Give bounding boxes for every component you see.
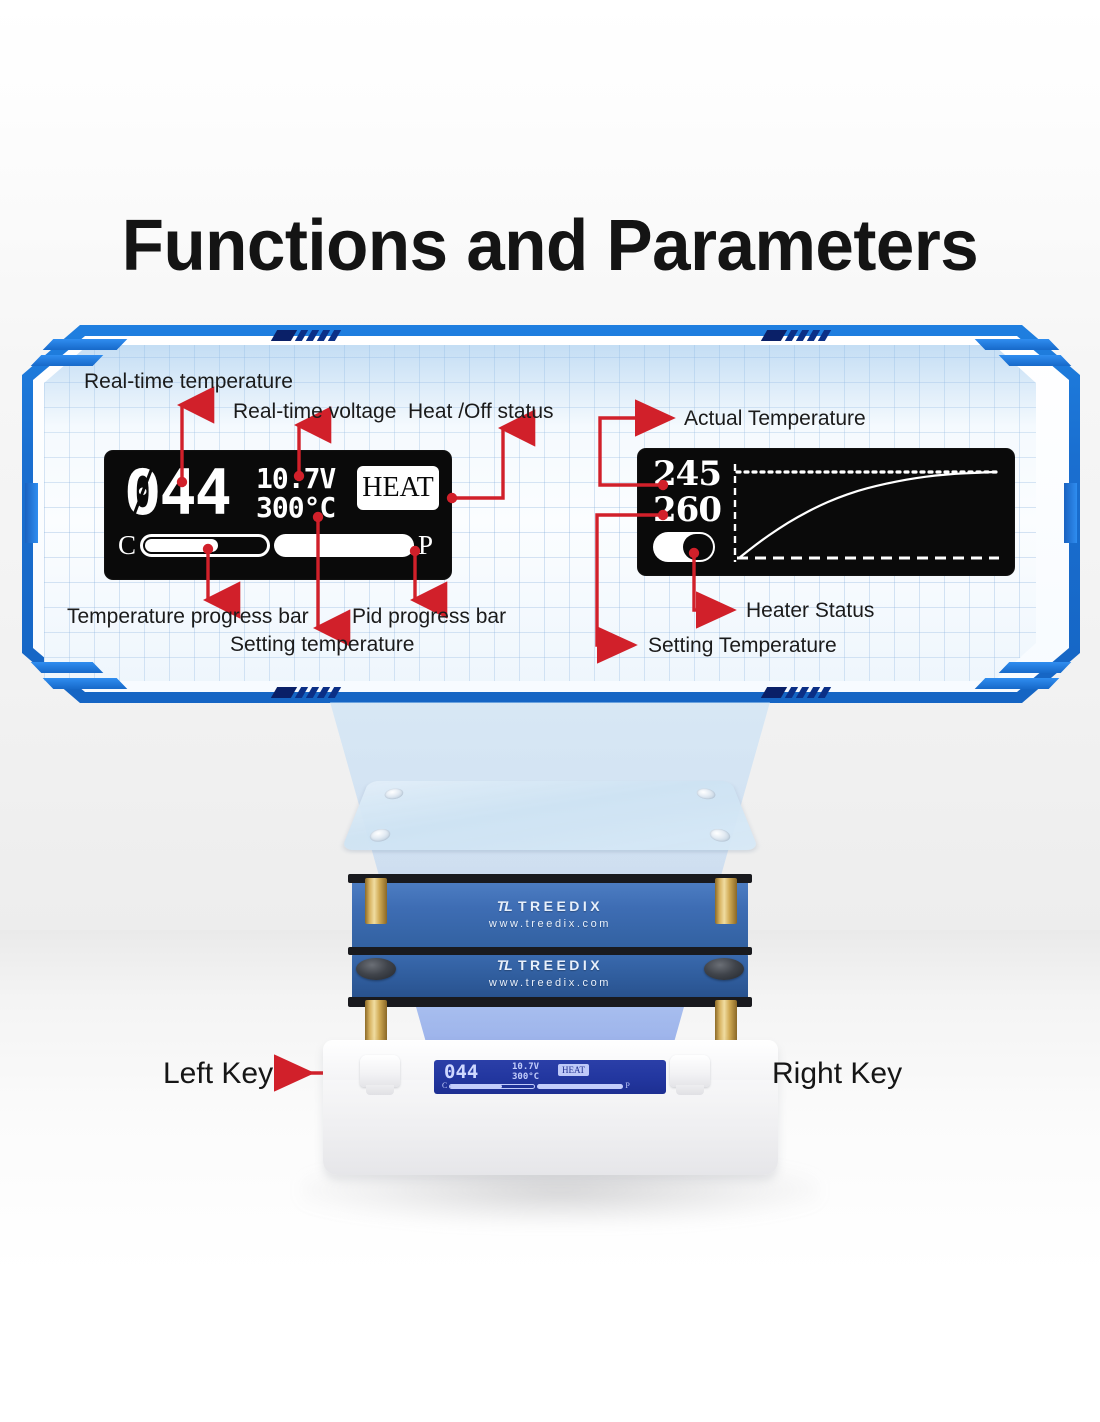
toggle-knob xyxy=(683,534,713,560)
mini-temperature-fill xyxy=(450,1085,502,1088)
brand-url-upper: www.treedix.com xyxy=(352,918,748,930)
corner-accent-top-right-2 xyxy=(999,355,1072,366)
pcb-edge-bottom xyxy=(348,997,752,1007)
knurled-nut-left xyxy=(356,958,396,980)
setting-temperature-value-right: 260 xyxy=(653,492,721,528)
mini-heat-badge: HEAT xyxy=(558,1064,589,1076)
device-mini-oled: 044 10.7V 300°C HEAT C P xyxy=(434,1060,666,1094)
oled-display-left: 044 10.7V 300°C HEAT C P xyxy=(104,450,452,580)
temperature-bar-label: C xyxy=(118,532,136,559)
pid-progress-bar xyxy=(274,534,414,557)
screw-top-right xyxy=(695,788,717,799)
callout-label-setting-temperature-right: Setting Temperature xyxy=(648,634,837,658)
callout-label-actual-temperature: Actual Temperature xyxy=(684,407,866,431)
pcb-edge-upper xyxy=(348,874,752,883)
left-key-label: Left Key xyxy=(163,1057,273,1091)
standoff-upper-left xyxy=(365,878,387,924)
mini-temperature-value: 044 xyxy=(444,1063,478,1082)
callout-label-realtime-voltage: Real-time voltage xyxy=(233,400,396,424)
treedix-logo-icon-lower: TL xyxy=(495,957,514,973)
brand-text-lower: TREEDIX xyxy=(518,957,603,973)
brand-url-lower: www.treedix.com xyxy=(352,977,748,989)
callout-label-temperature-progress-bar: Temperature progress bar xyxy=(67,605,309,629)
heat-status-badge: HEAT xyxy=(357,466,439,510)
corner-accent-top-left-1 xyxy=(43,339,128,350)
callout-label-realtime-temperature: Real-time temperature xyxy=(84,370,293,394)
callout-label-pid-progress-bar: Pid progress bar xyxy=(352,605,506,629)
screw-bottom-right xyxy=(708,829,732,842)
voltage-and-settemp-block: 10.7V 300°C xyxy=(256,464,335,522)
realtime-temperature-value: 044 xyxy=(124,462,230,524)
slashed-zero-glyph: 0 xyxy=(124,462,159,524)
pcb-board-lower: TLTREEDIX www.treedix.com xyxy=(352,953,748,1001)
callout-label-setting-temperature: Setting temperature xyxy=(230,633,414,657)
oled-display-right: 245 260 xyxy=(637,448,1015,576)
chart-actual-temp-curve xyxy=(739,472,995,558)
knurled-nut-right xyxy=(704,958,744,980)
right-key-button[interactable] xyxy=(670,1055,710,1087)
brand-text-upper: TREEDIX xyxy=(518,898,603,914)
pcb-board-upper: TLTREEDIX www.treedix.com xyxy=(352,880,748,952)
corner-accent-bottom-left-1 xyxy=(43,678,128,689)
mini-temperature-bar xyxy=(449,1084,535,1089)
frame-hashmarks-top-right xyxy=(764,330,828,341)
mini-bar-p-label: P xyxy=(625,1082,629,1090)
brand-name-upper: TLTREEDIX xyxy=(352,898,748,914)
frame-hashmarks-top-left xyxy=(274,330,338,341)
mini-bar-c-label: C xyxy=(442,1082,447,1090)
realtime-voltage-value: 10.7V xyxy=(256,464,335,493)
mini-settemp-value: 300°C xyxy=(512,1073,539,1083)
treedix-logo-icon-upper: TL xyxy=(495,898,514,914)
corner-accent-bottom-right-2 xyxy=(999,662,1072,673)
standoff-upper-right xyxy=(715,878,737,924)
temperature-progress-bar xyxy=(140,534,270,557)
progress-bar-row: C P xyxy=(118,528,440,562)
actual-temperature-value: 245 xyxy=(653,456,721,492)
mini-progress-bars: C P xyxy=(442,1082,656,1090)
pcb-edge-lower xyxy=(348,947,752,955)
mini-voltage-block: 10.7V 300°C xyxy=(512,1063,539,1082)
corner-accent-bottom-left-2 xyxy=(31,662,104,673)
corner-accent-bottom-right-1 xyxy=(975,678,1060,689)
heater-status-toggle[interactable] xyxy=(653,532,715,562)
setting-temperature-value: 300°C xyxy=(256,493,335,522)
callout-label-heat-off-status: Heat /Off status xyxy=(408,400,554,424)
brand-name-lower: TLTREEDIX xyxy=(352,957,748,973)
acrylic-top-plate xyxy=(341,781,759,850)
frame-side-tab-right xyxy=(1064,483,1077,543)
mini-pid-bar xyxy=(537,1084,623,1089)
screw-top-left xyxy=(383,788,405,799)
corner-accent-top-right-1 xyxy=(975,339,1060,350)
temperature-digits: 44 xyxy=(159,456,230,529)
right-display-values: 245 260 xyxy=(653,456,721,528)
page-title: Functions and Parameters xyxy=(22,205,1078,287)
screw-bottom-left xyxy=(368,829,392,842)
callout-label-heater-status: Heater Status xyxy=(746,599,874,623)
heating-curve-chart xyxy=(727,458,1003,568)
left-key-button[interactable] xyxy=(360,1055,400,1087)
pid-bar-label: P xyxy=(418,532,433,559)
corner-accent-top-left-2 xyxy=(31,355,104,366)
temperature-progress-fill xyxy=(145,539,218,552)
frame-side-tab-left xyxy=(25,483,38,543)
right-key-label: Right Key xyxy=(772,1057,902,1091)
